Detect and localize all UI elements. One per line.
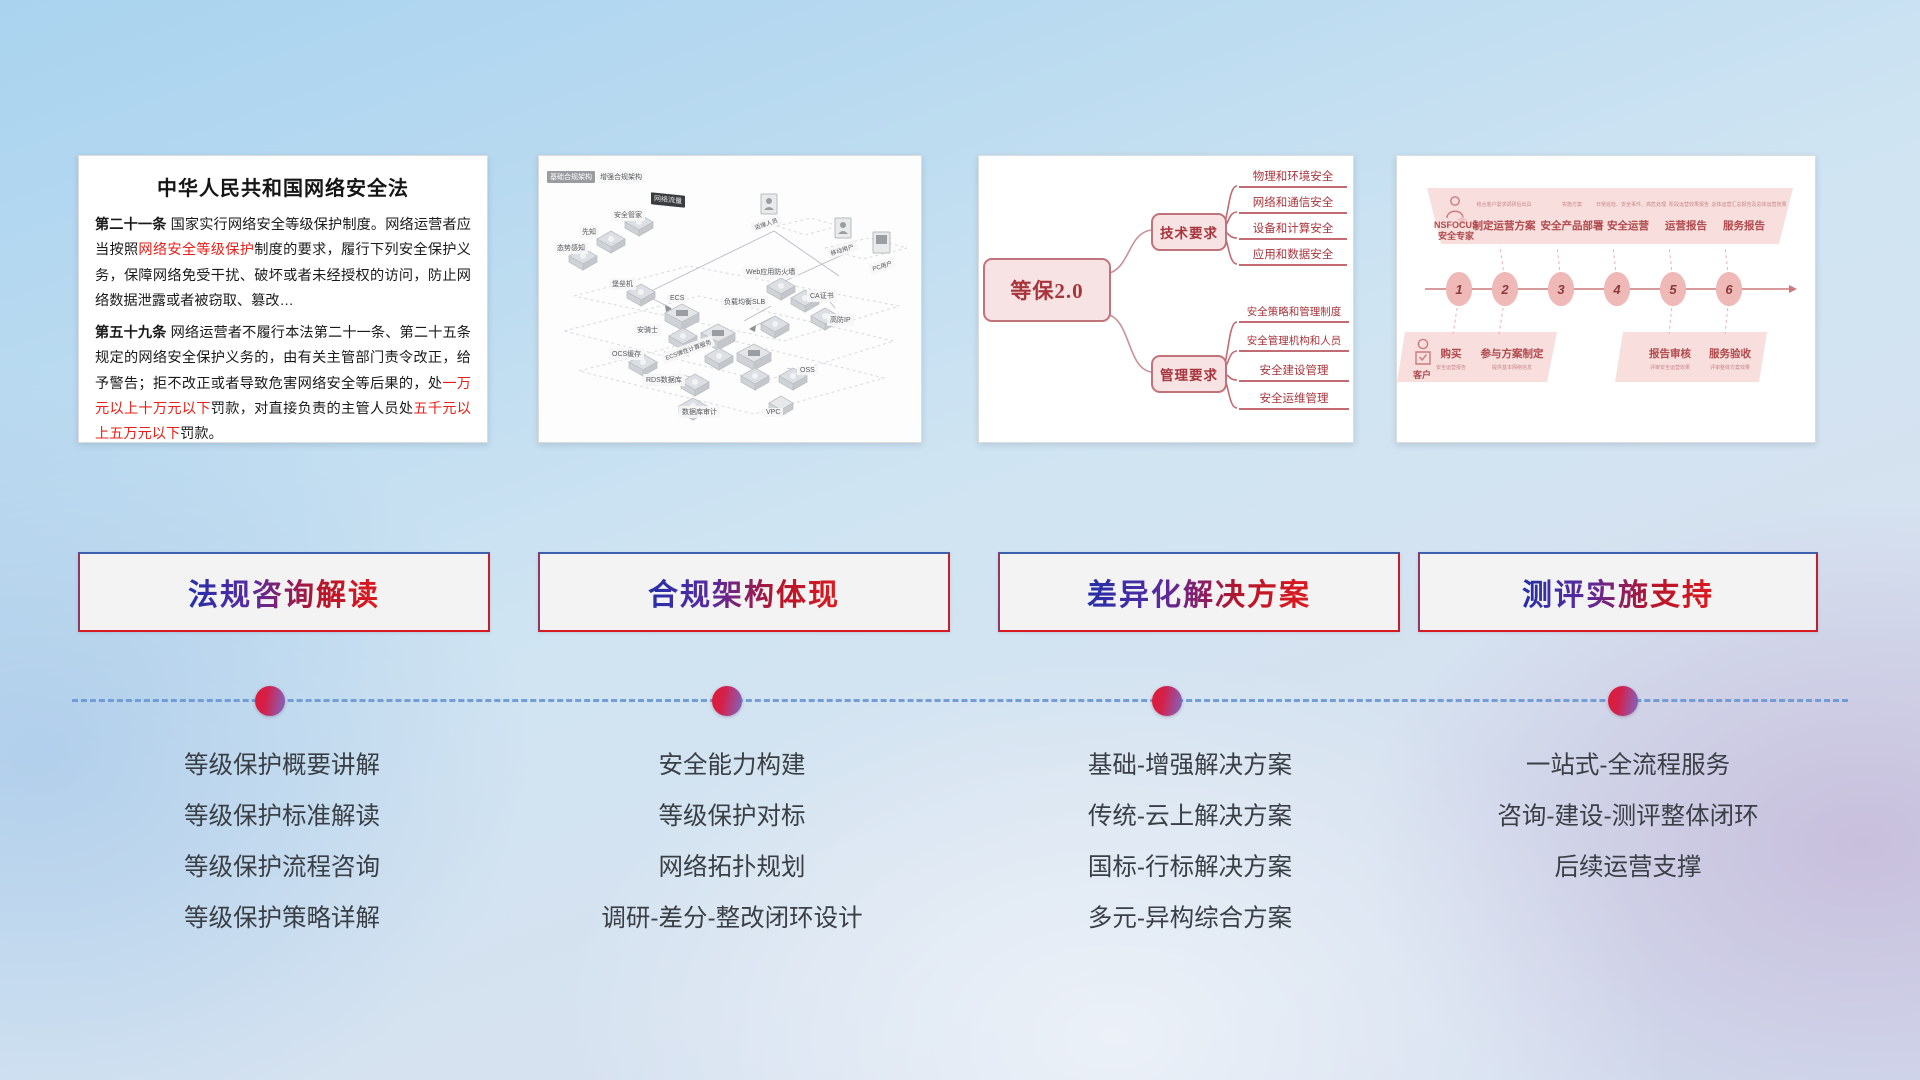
feature-list-architecture: 安全能力构建 等级保护对标 网络拓扑规划 调研-差分-整改闭环设计 <box>508 740 956 944</box>
card-cloud-architecture: 基础合规架构 增强合规架构 网络流量 态势感知 先知 安全管家 堡垒机 ECS … <box>538 155 922 443</box>
list-item: 国标-行标解决方案 <box>966 842 1414 893</box>
law-paragraph-21: 第二十一条 国家实行网络安全等级保护制度。网络运营者应当按照网络安全等级保护制度… <box>95 213 471 314</box>
mindmap-leaf-app-data: 应用和数据安全 <box>1239 246 1347 266</box>
list-item: 等级保护流程咨询 <box>58 842 506 893</box>
headline-label: 测评实施支持 <box>1522 570 1714 614</box>
mindmap-leaf-device-compute: 设备和计算安全 <box>1239 220 1347 240</box>
list-item: 等级保护对标 <box>508 791 956 842</box>
law-run-highlight: 网络安全等级保护 <box>138 242 254 258</box>
arch-node-ca-cert: CA证书 <box>807 290 837 302</box>
feature-list-evaluation: 一站式-全流程服务 咨询-建设-测评整体闭环 后续运营支撑 <box>1404 740 1852 893</box>
expert-band <box>1427 188 1793 244</box>
list-item: 咨询-建设-测评整体闭环 <box>1404 791 1852 842</box>
arch-node-waf: Web应用防火墙 <box>743 266 798 278</box>
mindmap-diagram: 等保2.0 技术要求 管理要求 物理和环境安全 网络和通信安全 设备和计算安全 … <box>979 156 1353 442</box>
svc-bottom-sub-2: 提供基本网络信息 <box>1473 364 1551 371</box>
mindmap-leaf-policy-system: 安全策略和管理制度 <box>1239 304 1349 323</box>
arch-node-ocs-cache: OCS缓存 <box>609 348 644 360</box>
service-timeline-diagram: NSFOCUS安全专家 客户 1 2 3 4 5 6 结合客户需求调研后出具 制… <box>1397 156 1815 442</box>
svc-step-number-2: 2 <box>1492 273 1518 306</box>
headline-box-regulation-consulting[interactable]: 法规咨询解读 <box>78 552 490 632</box>
list-item: 后续运营支撑 <box>1404 842 1852 893</box>
list-item: 传统-云上解决方案 <box>966 791 1414 842</box>
list-item: 调研-差分-整改闭环设计 <box>508 893 956 944</box>
svc-bottom-label-6: 服务验收 <box>1697 346 1763 361</box>
arch-node-vpc: VPC <box>763 408 783 417</box>
arch-node-situation-awareness: 态势感知 <box>554 242 588 254</box>
arch-tab-enhanced[interactable]: 增强合规架构 <box>597 171 645 183</box>
svc-bottom-label-2: 参与方案制定 <box>1473 346 1551 361</box>
feature-list-regulation: 等级保护概要讲解 等级保护标准解读 等级保护流程咨询 等级保护策略详解 <box>58 740 506 944</box>
mindmap-leaf-operation-mgmt: 安全运维管理 <box>1239 390 1349 410</box>
svc-bottom-label-1: 购买 <box>1425 346 1477 361</box>
law-run: 罚款，对直接负责的主管人员处 <box>211 401 414 417</box>
law-article-number-21: 第二十一条 <box>95 217 167 233</box>
svc-step-number-5: 5 <box>1660 273 1686 306</box>
law-title: 中华人民共和国网络安全法 <box>95 172 471 201</box>
law-paragraph-59: 第五十九条 网络运营者不履行本法第二十一条、第二十五条规定的网络安全保护义务的，… <box>95 321 471 443</box>
mindmap-leaf-network-comm: 网络和通信安全 <box>1239 194 1347 214</box>
mindmap-leaf-physical-env: 物理和环境安全 <box>1239 168 1347 188</box>
timeline-dashed-line <box>72 699 1848 702</box>
card-mindmap-dengbao: 等保2.0 技术要求 管理要求 物理和环境安全 网络和通信安全 设备和计算安全 … <box>978 155 1354 443</box>
arch-node-bastion-host: 堡垒机 <box>609 278 636 290</box>
arch-node-anqishi: 安骑士 <box>634 324 661 336</box>
arch-node-ecs: ECS <box>667 294 687 303</box>
slide-canvas: 中华人民共和国网络安全法 第二十一条 国家实行网络安全等级保护制度。网络运营者应… <box>0 0 1920 1080</box>
card-cybersecurity-law: 中华人民共和国网络安全法 第二十一条 国家实行网络安全等级保护制度。网络运营者应… <box>78 155 488 443</box>
svc-step-number-4: 4 <box>1604 273 1630 306</box>
headline-box-compliance-architecture[interactable]: 合规架构体现 <box>538 552 950 632</box>
svc-step-number-3: 3 <box>1548 273 1574 306</box>
mindmap-leaf-construction-mgmt: 安全建设管理 <box>1239 362 1349 382</box>
law-text-body: 中华人民共和国网络安全法 第二十一条 国家实行网络安全等级保护制度。网络运营者应… <box>79 156 487 442</box>
headline-label: 差异化解决方案 <box>1087 570 1311 614</box>
card-service-timeline: NSFOCUS安全专家 客户 1 2 3 4 5 6 结合客户需求调研后出具 制… <box>1396 155 1816 443</box>
feature-list-solution: 基础-增强解决方案 传统-云上解决方案 国标-行标解决方案 多元-异构综合方案 <box>966 740 1414 944</box>
svc-bottom-label-5: 报告审核 <box>1637 346 1703 361</box>
list-item: 安全能力构建 <box>508 740 956 791</box>
timeline-dot-4 <box>1608 686 1638 716</box>
timeline-dot-3 <box>1152 686 1182 716</box>
law-article-number-59: 第五十九条 <box>95 325 167 341</box>
headline-box-differentiated-solution[interactable]: 差异化解决方案 <box>998 552 1400 632</box>
svc-bottom-sub-6: 评审整体方案效果 <box>1693 364 1767 371</box>
headline-label: 合规架构体现 <box>648 570 840 614</box>
list-item: 网络拓扑规划 <box>508 842 956 893</box>
arch-node-security-butler: 安全管家 <box>611 209 645 221</box>
arch-node-db-audit: 数据库审计 <box>679 406 720 418</box>
svc-top-sub-6: 总体运营汇总报告及总体运营效果 <box>1693 201 1805 208</box>
mindmap-branch-management: 管理要求 <box>1151 355 1227 393</box>
svc-step-number-6: 6 <box>1716 273 1742 306</box>
arch-node-slb: 负载均衡SLB <box>721 296 768 308</box>
list-item: 等级保护概要讲解 <box>58 740 506 791</box>
list-item: 多元-异构综合方案 <box>966 893 1414 944</box>
arch-node-oss: OSS <box>797 366 818 375</box>
list-item: 基础-增强解决方案 <box>966 740 1414 791</box>
list-item: 一站式-全流程服务 <box>1404 740 1852 791</box>
timeline-dot-2 <box>712 686 742 716</box>
list-item: 等级保护策略详解 <box>58 893 506 944</box>
arch-node-xianzhi: 先知 <box>579 226 599 238</box>
headline-box-evaluation-support[interactable]: 测评实施支持 <box>1418 552 1818 632</box>
svc-bottom-sub-1: 安全运营报告 <box>1425 364 1477 371</box>
law-run: 罚款。 <box>180 426 223 442</box>
mindmap-branch-technical: 技术要求 <box>1151 213 1227 251</box>
architecture-diagram: 基础合规架构 增强合规架构 网络流量 态势感知 先知 安全管家 堡垒机 ECS … <box>539 156 921 442</box>
mindmap-leaf-org-personnel: 安全管理机构和人员 <box>1239 333 1349 352</box>
arch-node-anti-ddos: 高防IP <box>827 314 854 326</box>
headline-label: 法规咨询解读 <box>188 570 380 614</box>
list-item: 等级保护标准解读 <box>58 791 506 842</box>
svc-top-label-6: 服务报告 <box>1699 218 1789 233</box>
timeline-dot-1 <box>255 686 285 716</box>
arch-node-rds-database: RDS数据库 <box>643 374 685 386</box>
svc-step-number-1: 1 <box>1446 273 1472 306</box>
arch-tab-basic[interactable]: 基础合规架构 <box>547 171 595 183</box>
mindmap-root: 等保2.0 <box>983 258 1111 322</box>
